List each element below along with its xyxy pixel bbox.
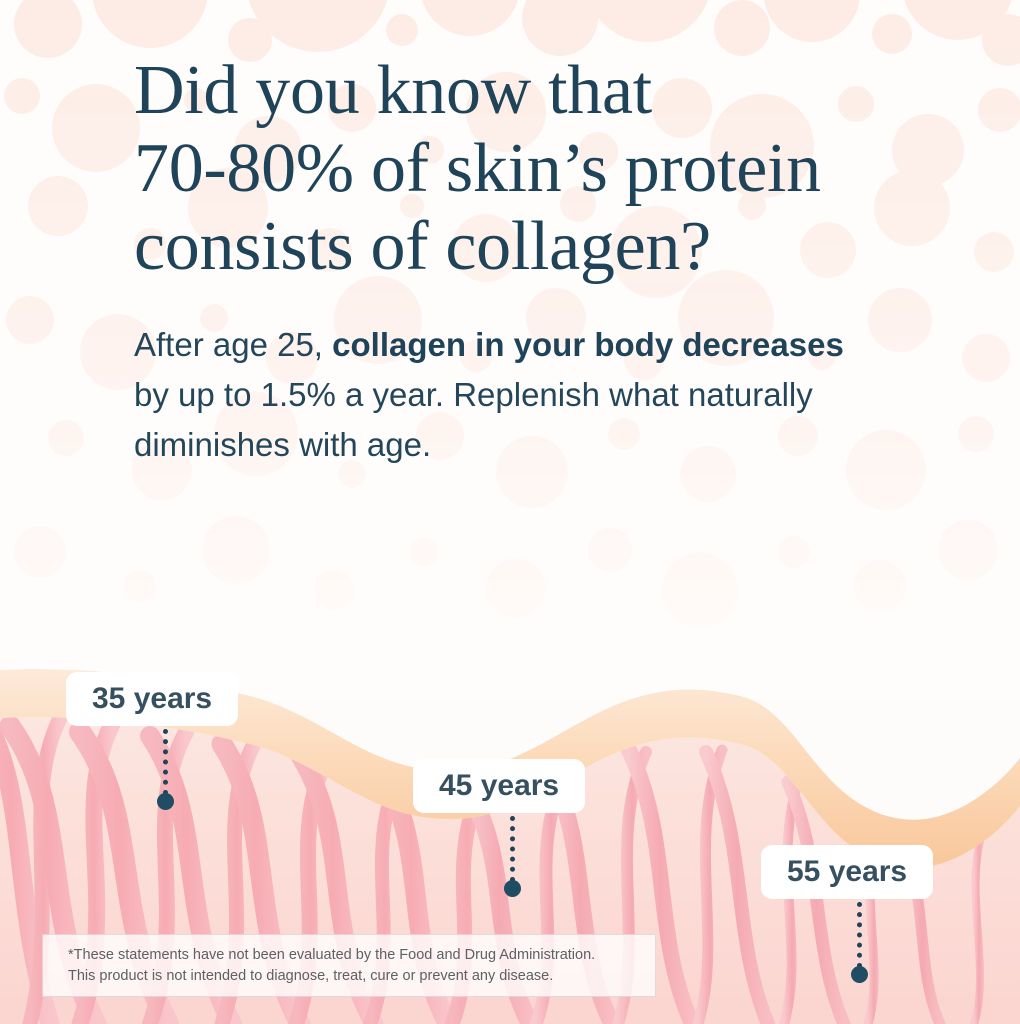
text-block: Did you know that 70-80% of skin’s prote… <box>134 52 934 470</box>
infographic-canvas: Did you know that 70-80% of skin’s prote… <box>0 0 1020 1024</box>
age-marker-label-35: 35 years <box>92 682 212 716</box>
age-marker-card-55[interactable]: 55 years <box>761 845 933 899</box>
page-title: Did you know that 70-80% of skin’s prote… <box>134 52 934 286</box>
fda-disclaimer: *These statements have not been evaluate… <box>42 934 656 997</box>
age-marker-line-35 <box>163 729 168 795</box>
body-text-part-2: by up to 1.5% a year. Replenish what nat… <box>134 376 813 463</box>
age-marker-dot-35 <box>157 793 174 810</box>
age-marker-dot-45 <box>504 880 521 897</box>
age-marker-dot-55 <box>851 966 868 983</box>
age-marker-label-45: 45 years <box>439 769 559 803</box>
age-marker-card-45[interactable]: 45 years <box>413 759 585 813</box>
age-marker-line-55 <box>857 902 862 968</box>
body-text-part-1: After age 25, <box>134 326 332 363</box>
age-marker-card-35[interactable]: 35 years <box>66 672 238 726</box>
body-paragraph: After age 25, collagen in your body decr… <box>134 320 874 470</box>
age-marker-line-45 <box>510 816 515 882</box>
age-marker-label-55: 55 years <box>787 855 907 889</box>
body-text-emphasis: collagen in your body decreases <box>332 326 844 363</box>
